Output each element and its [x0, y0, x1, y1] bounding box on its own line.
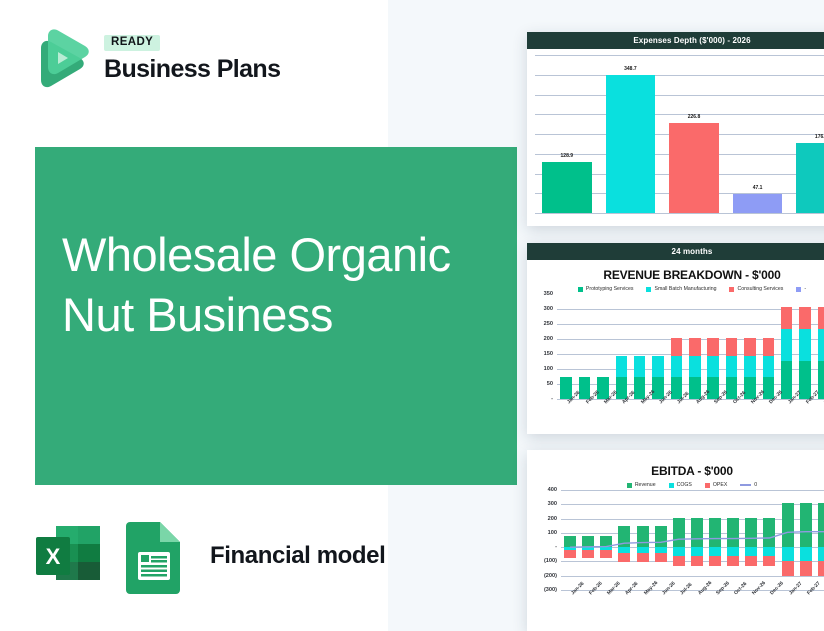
ebitda-x-axis: Jan-26Feb-26Mar-26Apr-26May-26Jun-26Jul-…	[561, 590, 824, 616]
bar-segment	[689, 356, 700, 377]
bar	[542, 162, 592, 213]
brand-text-block: READY Business Plans	[104, 35, 280, 84]
y-axis-tick-label: 50	[529, 381, 553, 387]
legend-item: -	[796, 286, 806, 292]
legend-label: Prototyping Services	[586, 286, 634, 292]
legend-line-marker	[740, 484, 751, 486]
google-sheets-icon	[124, 518, 186, 594]
y-axis-tick-label: 150	[529, 351, 553, 357]
chart-card-ebitda[interactable]: EBITDA - $'000 RevenueCOGSOPEX0 40030020…	[527, 450, 824, 631]
stacked-bar	[726, 338, 737, 400]
brand-header: READY Business Plans	[28, 28, 280, 90]
play-triangle-logo-icon	[28, 28, 90, 90]
legend-color-swatch	[627, 483, 632, 488]
footer-row: X Financial model	[30, 518, 385, 594]
y-axis-tick-label: (300)	[529, 587, 557, 593]
y-axis-tick-label: 200	[529, 516, 557, 522]
page-title: Wholesale Organic Nut Business	[62, 225, 482, 345]
bar-value-label: 128.9	[535, 153, 599, 159]
gridline	[535, 213, 824, 214]
slide-root: READY Business Plans Wholesale Organic N…	[0, 0, 824, 631]
legend-item: 0	[740, 482, 757, 488]
stacked-bar	[689, 338, 700, 400]
legend-color-swatch	[646, 287, 651, 292]
y-axis-tick-label: 250	[529, 321, 553, 327]
legend-item: Revenue	[627, 482, 656, 488]
legend-item: Prototyping Services	[578, 286, 634, 292]
bar-value-label: 348.7	[599, 66, 663, 72]
revenue-plot-area: 35030025020015010050-	[557, 294, 824, 399]
chart-card-expenses[interactable]: Expenses Depth ($'000) - 2026 128.9348.7…	[527, 32, 824, 226]
revenue-x-axis: Jan-26Feb-26Mar-26Apr-26May-26Jun-26Jul-…	[557, 399, 824, 425]
y-axis-tick-label: 300	[529, 501, 557, 507]
bar-segment	[634, 356, 645, 377]
legend-color-swatch	[578, 287, 583, 292]
expenses-chart-body: 128.9348.7226.847.1176.5	[527, 55, 824, 213]
bar-segment	[726, 338, 737, 356]
stacked-bar	[744, 338, 755, 400]
legend-color-swatch	[729, 287, 734, 292]
ebitda-legend: RevenueCOGSOPEX0	[527, 482, 824, 488]
bar-value-label: 47.1	[726, 185, 790, 191]
bar-segment	[781, 329, 792, 360]
bar-segment	[616, 356, 627, 377]
y-axis-tick-label: -	[529, 544, 557, 550]
gridline	[535, 75, 824, 76]
legend-label: Revenue	[635, 482, 656, 488]
legend-item: OPEX	[705, 482, 727, 488]
bar-value-label: 226.8	[662, 114, 726, 120]
bar-segment	[671, 356, 682, 377]
bar-segment	[652, 356, 663, 377]
ebitda-line-series	[561, 490, 824, 590]
y-axis-tick-label: 300	[529, 306, 553, 312]
legend-color-swatch	[796, 287, 801, 292]
y-axis-tick-label: 100	[529, 530, 557, 536]
legend-item: Small Batch Manufacturing	[646, 286, 716, 292]
revenue-chart-title: REVENUE BREAKDOWN - $'000	[527, 268, 824, 282]
ready-badge: READY	[104, 35, 160, 52]
stacked-bar	[799, 307, 810, 399]
stacked-bar	[818, 307, 824, 399]
legend-label: Small Batch Manufacturing	[654, 286, 716, 292]
legend-color-swatch	[669, 483, 674, 488]
bar-segment	[707, 338, 718, 356]
svg-text:X: X	[46, 544, 61, 569]
bar	[606, 75, 656, 213]
expenses-plot-area: 128.9348.7226.847.1176.5	[535, 55, 824, 213]
expenses-card-header: Expenses Depth ($'000) - 2026	[527, 32, 824, 49]
bar-segment	[818, 329, 824, 360]
bar-segment	[799, 329, 810, 360]
revenue-chart-body: REVENUE BREAKDOWN - $'000 Prototyping Se…	[527, 268, 824, 425]
legend-label: COGS	[677, 482, 692, 488]
revenue-legend: Prototyping ServicesSmall Batch Manufact…	[527, 286, 824, 292]
y-axis-tick-label: 200	[529, 336, 553, 342]
bar-segment	[707, 356, 718, 377]
y-axis-tick-label: 350	[529, 291, 553, 297]
bar-segment	[744, 338, 755, 356]
bar-segment	[763, 356, 774, 377]
bar-segment	[689, 338, 700, 356]
stacked-bar	[781, 307, 792, 399]
y-axis-tick-label: 100	[529, 366, 553, 372]
ebitda-chart-body: EBITDA - $'000 RevenueCOGSOPEX0 40030020…	[527, 464, 824, 616]
ebitda-plot-area: 400300200100-(100)(200)(300)	[561, 490, 824, 590]
financial-model-label: Financial model	[210, 542, 385, 570]
bar-segment	[671, 338, 682, 356]
legend-color-swatch	[705, 483, 710, 488]
hero-panel: Wholesale Organic Nut Business	[35, 147, 517, 485]
bar-segment	[744, 356, 755, 377]
y-axis-tick-label: (100)	[529, 558, 557, 564]
bar-segment	[818, 307, 824, 329]
y-axis-tick-label: -	[529, 396, 553, 402]
y-axis-tick-label: (200)	[529, 573, 557, 579]
stacked-bar	[763, 338, 774, 400]
bar	[733, 194, 783, 213]
bar-value-label: 176.5	[789, 134, 824, 140]
stacked-bar	[707, 338, 718, 400]
microsoft-excel-icon: X	[30, 518, 106, 594]
legend-label: Consulting Services	[737, 286, 783, 292]
chart-card-revenue[interactable]: 24 months REVENUE BREAKDOWN - $'000 Prot…	[527, 243, 824, 434]
legend-label: 0	[754, 482, 757, 488]
legend-label: OPEX	[713, 482, 727, 488]
bar	[796, 143, 824, 213]
bar	[669, 123, 719, 213]
gridline	[535, 95, 824, 96]
bar-segment	[763, 338, 774, 356]
legend-label: -	[804, 286, 806, 292]
bar-segment	[726, 356, 737, 377]
ebitda-chart-title: EBITDA - $'000	[527, 464, 824, 478]
brand-name: Business Plans	[104, 56, 280, 84]
bar-segment	[781, 307, 792, 329]
legend-item: Consulting Services	[729, 286, 783, 292]
gridline	[535, 55, 824, 56]
stacked-bar	[671, 338, 682, 400]
bar-segment	[799, 307, 810, 329]
revenue-card-header: 24 months	[527, 243, 824, 260]
legend-item: COGS	[669, 482, 692, 488]
y-axis-tick-label: 400	[529, 487, 557, 493]
